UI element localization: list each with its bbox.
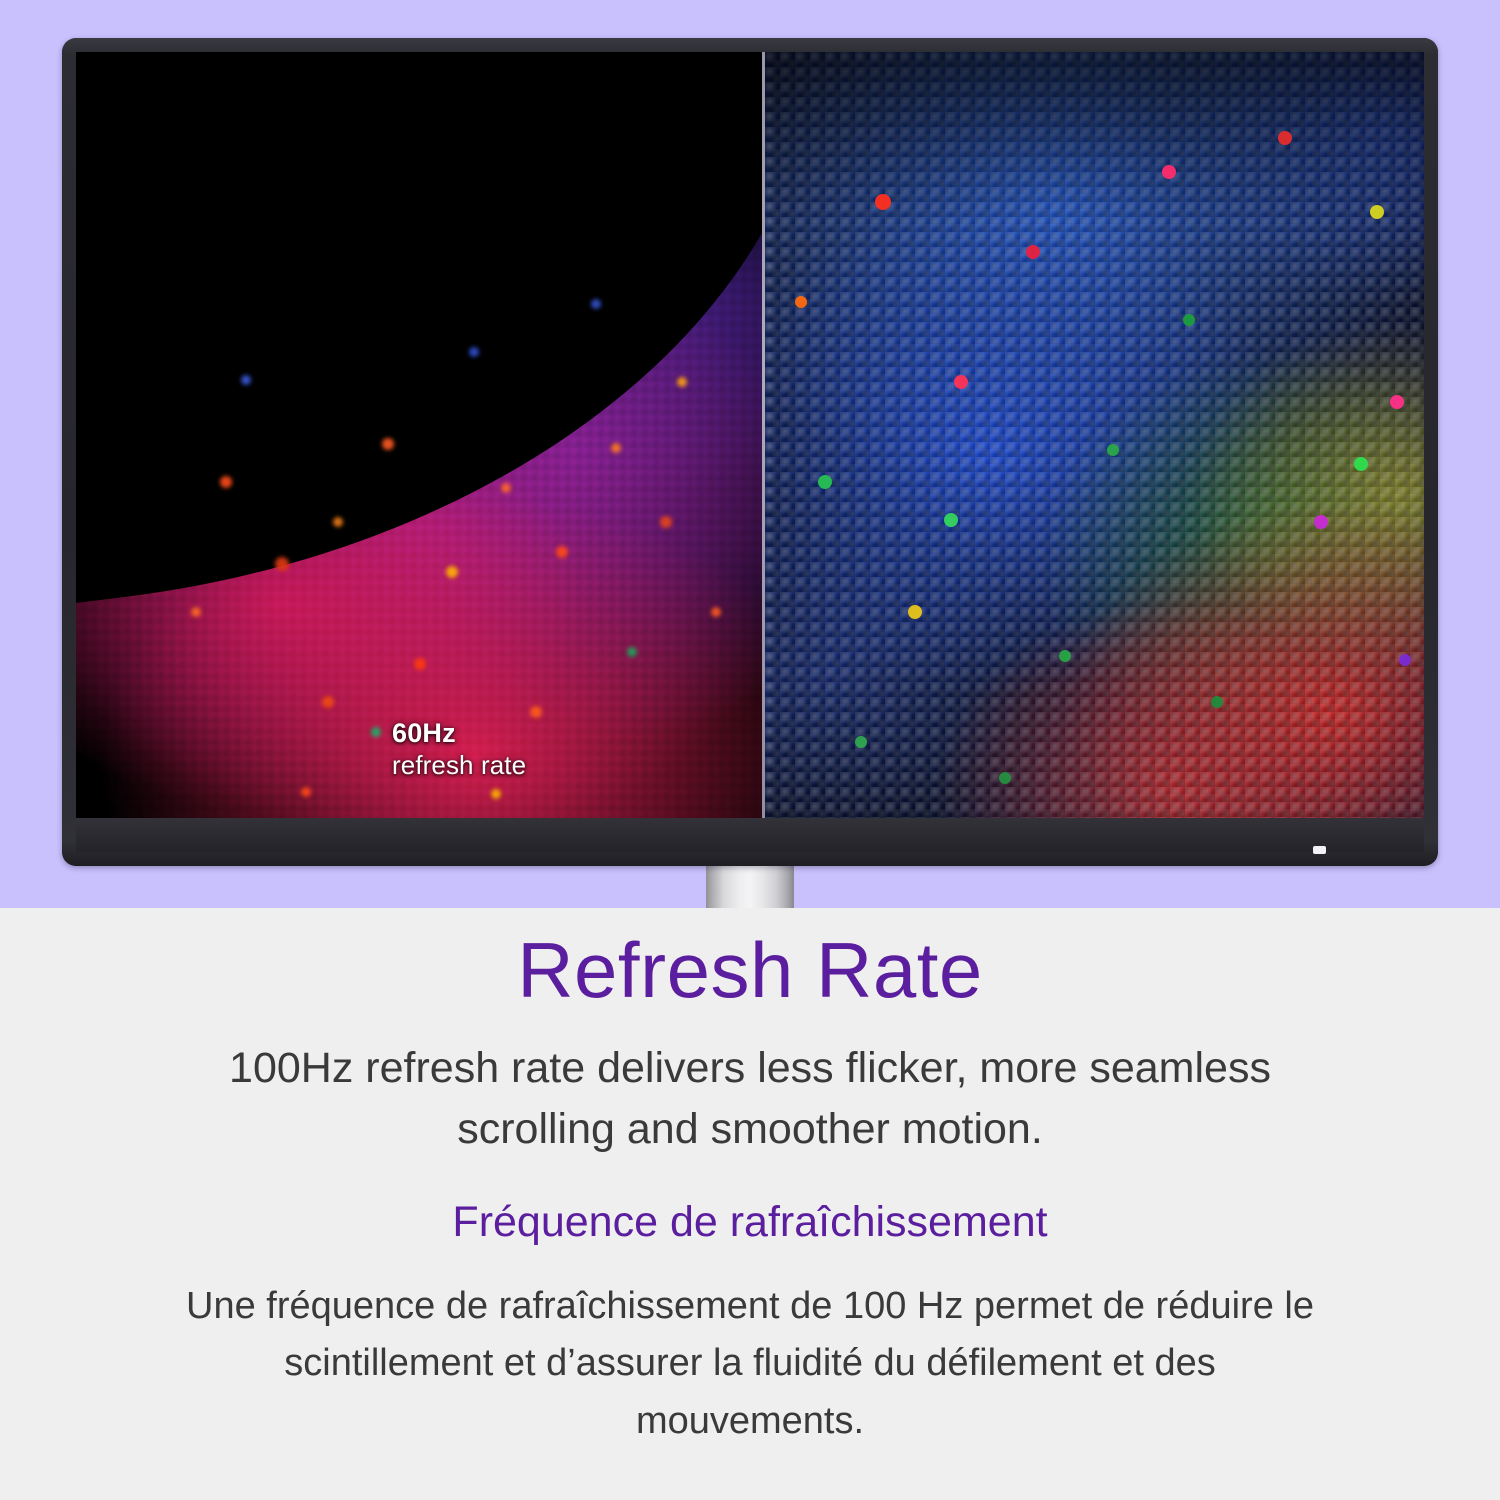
caption-60hz: 60Hz refresh rate xyxy=(392,718,526,781)
screen-split-divider xyxy=(762,52,765,818)
screen-panel-100hz: 100Hz refresh rate xyxy=(765,52,1424,818)
description-english: 100Hz refresh rate delivers less flicker… xyxy=(160,1012,1340,1160)
copy-section: Refresh Rate 100Hz refresh rate delivers… xyxy=(0,908,1500,1500)
product-feature-card: 60Hz refresh rate xyxy=(0,0,1500,1500)
panel-left-specks-svg xyxy=(76,52,762,818)
caption-60hz-sublabel: refresh rate xyxy=(392,750,526,781)
panel-right-specks-svg xyxy=(765,52,1424,818)
power-indicator-led xyxy=(1313,846,1326,854)
monitor-screen: 60Hz refresh rate xyxy=(76,52,1424,818)
panel-left-color-specks xyxy=(76,52,762,818)
page-title: Refresh Rate xyxy=(0,908,1500,1012)
description-french: Une fréquence de rafraîchissement de 100… xyxy=(170,1250,1330,1451)
monitor-bottom-chin xyxy=(76,818,1424,852)
screen-panel-60hz: 60Hz refresh rate xyxy=(76,52,762,818)
caption-60hz-rate: 60Hz xyxy=(392,718,526,750)
hero-section: 60Hz refresh rate xyxy=(0,0,1500,908)
monitor-device: 60Hz refresh rate xyxy=(62,38,1438,866)
page-title-french: Fréquence de rafraîchissement xyxy=(0,1160,1500,1250)
